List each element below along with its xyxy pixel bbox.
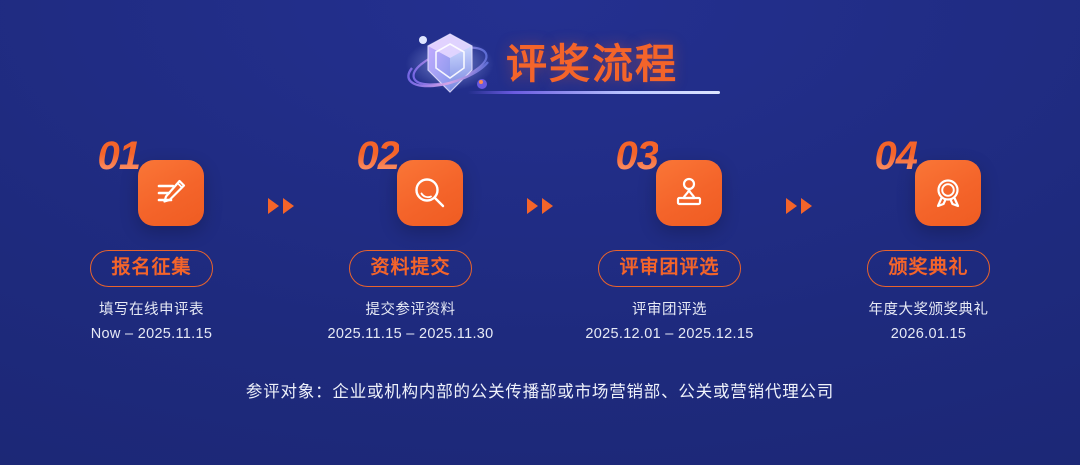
step-1-date: Now – 2025.11.15	[91, 326, 212, 342]
arrow-triangle	[268, 198, 279, 214]
arrow-triangle	[283, 198, 294, 214]
page-title: 评奖流程	[506, 44, 678, 85]
award-ribbon-icon	[915, 160, 981, 226]
header: 评奖流程	[0, 22, 1080, 104]
step-4-description: 年度大奖颁奖典礼	[869, 298, 989, 319]
step-2-date: 2025.11.15 – 2025.11.30	[327, 326, 493, 342]
title-underline	[468, 91, 720, 94]
footer-note: 参评对象：企业或机构内部的公关传播部或市场营销部、公关或营销代理公司	[0, 378, 1080, 402]
arrow-triangle	[786, 198, 797, 214]
step-2-pill[interactable]: 资料提交	[349, 250, 471, 287]
stamp-icon	[656, 160, 722, 226]
magnifier-icon	[397, 160, 463, 226]
step-1-number: 01	[98, 136, 141, 176]
document-pencil-icon	[138, 160, 204, 226]
step-item-2: 02 资料提交 提交参评资料 2025.11.15 – 2025.11.30	[304, 138, 517, 342]
step-4-pill[interactable]: 颁奖典礼	[867, 250, 989, 287]
step-4-number: 04	[875, 136, 918, 176]
step-3-description: 评审团评选	[632, 298, 707, 319]
step-item-4: 04 颁奖典礼 年度大奖颁奖典礼 2026.01.15	[822, 138, 1035, 342]
double-right-arrow-icon	[776, 198, 822, 214]
step-2-description: 提交参评资料	[366, 298, 456, 319]
arrow-triangle	[801, 198, 812, 214]
step-1-description: 填写在线申评表	[99, 298, 204, 319]
step-4-icon-group: 04	[877, 138, 981, 234]
poster-canvas: 评奖流程 01	[0, 0, 1080, 465]
step-4-date: 2026.01.15	[891, 326, 967, 342]
double-right-arrow-icon	[258, 198, 304, 214]
step-item-1: 01 报名征集 填写在线申评	[45, 138, 258, 342]
arrow-triangle	[527, 198, 538, 214]
arrow-triangle	[542, 198, 553, 214]
step-2-number: 02	[357, 136, 400, 176]
step-1-pill[interactable]: 报名征集	[90, 250, 212, 287]
step-3-icon-group: 03	[618, 138, 722, 234]
steps-row: 01 报名征集 填写在线申评	[0, 138, 1080, 342]
step-2-icon-group: 02	[359, 138, 463, 234]
step-1-icon-group: 01	[100, 138, 204, 234]
step-3-number: 03	[616, 136, 659, 176]
step-3-date: 2025.12.01 – 2025.12.15	[585, 326, 753, 342]
double-right-arrow-icon	[517, 198, 563, 214]
step-3-pill[interactable]: 评审团评选	[598, 250, 740, 287]
step-item-3: 03 评审团评选 评审团评选 2025.12.01 – 2025.12.15	[563, 138, 776, 342]
